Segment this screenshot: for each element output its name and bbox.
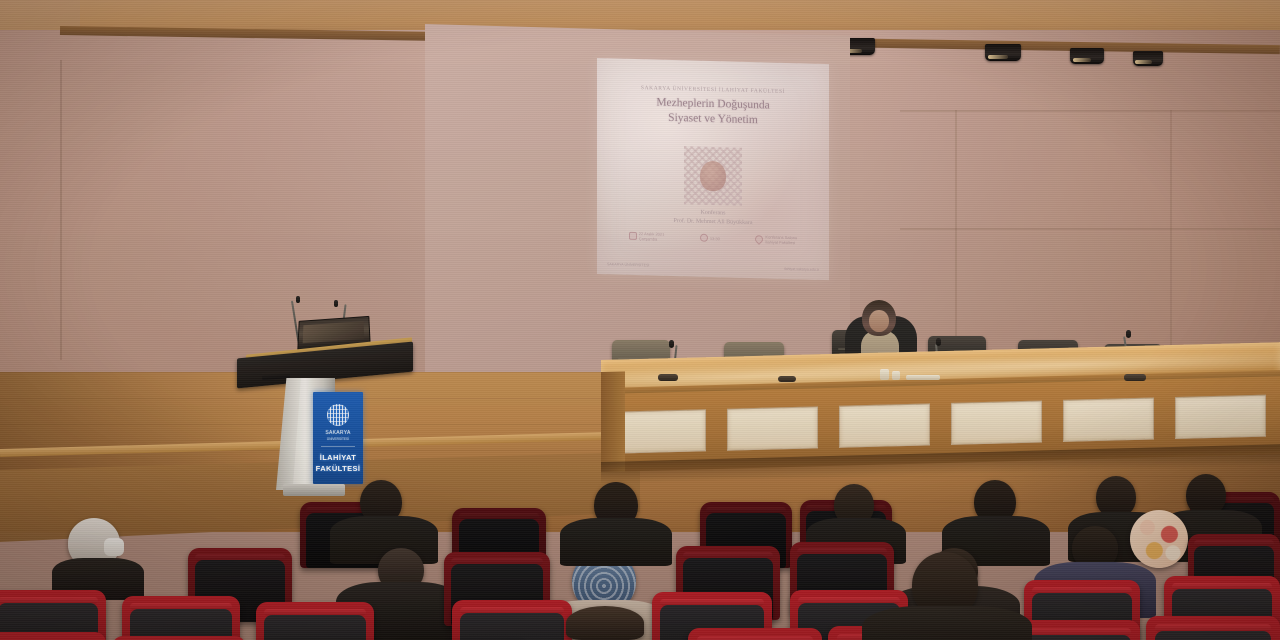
slide-info-text: Konferans Salonuİlahiyat Fakültesi — [765, 234, 797, 245]
clock-icon — [700, 234, 708, 242]
slide-title: Mezheplerin Doğuşunda Siyaset ve Yönetim — [605, 94, 821, 130]
wall-seam — [955, 110, 957, 370]
papers — [906, 375, 940, 380]
calendar-icon — [629, 232, 637, 240]
table-microphone-head — [936, 338, 941, 346]
seat — [0, 632, 106, 640]
audience-head-headscarf — [1130, 510, 1188, 568]
slide-info-item: 13:30 — [700, 234, 720, 243]
face-mask — [104, 538, 124, 556]
seat — [256, 602, 374, 640]
projection-screen: SAKARYA ÜNİVERSİTESİ İLAHİYAT FAKÜLTESİ … — [597, 58, 829, 280]
spotlight-fixture — [985, 44, 1021, 61]
wall-seam — [1170, 110, 1172, 370]
spotlight-fixture — [1133, 51, 1163, 66]
seat — [122, 596, 240, 640]
conference-hall-photo: SAKARYA ÜNİVERSİTESİ İLAHİYAT FAKÜLTESİ … — [0, 0, 1280, 640]
water-glass — [880, 369, 889, 380]
slide-info-item: Konferans Salonuİlahiyat Fakültesi — [755, 234, 797, 245]
wall-seam — [60, 60, 62, 360]
table-objects — [880, 368, 950, 380]
audience-shoulders — [560, 518, 672, 566]
audience-shoulders — [862, 606, 1032, 640]
lectern-microphone-head — [296, 296, 300, 303]
table-microphone-head — [669, 340, 674, 348]
sakarya-university-globe-logo-icon — [327, 404, 349, 426]
ottoman-medallion-emblem-icon — [684, 146, 742, 206]
wall-seam — [900, 110, 1280, 112]
microphone-base — [778, 376, 796, 382]
water-glass — [892, 371, 900, 380]
slide-info-text: 13:30 — [710, 235, 720, 240]
seat — [112, 636, 246, 640]
seat — [452, 600, 572, 640]
location-pin-icon — [754, 234, 765, 245]
spotlight-fixture — [1070, 48, 1104, 64]
audience-head — [566, 606, 644, 640]
slide-info-text: 22 Aralık 2021Çarşamba — [639, 231, 665, 242]
wall-seam — [900, 228, 1280, 230]
seat — [1146, 616, 1280, 640]
auditorium-seating — [0, 430, 1280, 640]
lectern-microphone-head — [334, 300, 338, 307]
microphone-base — [658, 374, 678, 381]
microphone-base — [1124, 374, 1146, 381]
table-microphone-head — [1126, 330, 1131, 338]
slide-info-item: 22 Aralık 2021Çarşamba — [629, 231, 665, 242]
speaker-face — [869, 310, 889, 332]
seat — [688, 628, 822, 640]
